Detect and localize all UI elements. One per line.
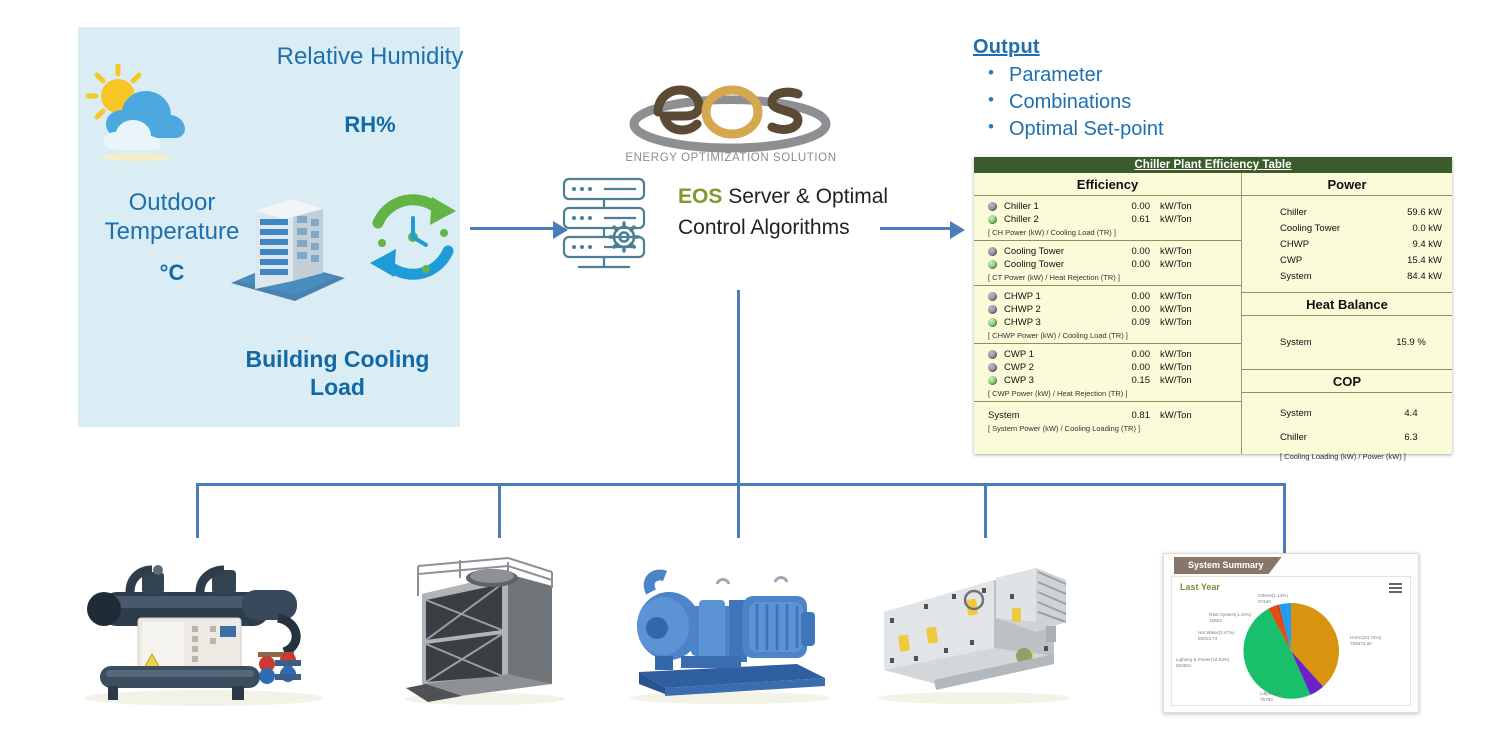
efficiency-group-chwp: CHWP 1 0.00 kW/Ton CHWP 2 0.00 kW/Ton CH… [974, 286, 1241, 344]
row-value: 6.3 [1380, 432, 1442, 443]
row-label: CHWP [1280, 239, 1380, 250]
power-column-title: Power [1242, 173, 1452, 196]
bullet-icon: • [973, 118, 1009, 137]
pie-label-others: Others(1.44%) 67240 [1258, 593, 1288, 605]
status-dot-off-icon [988, 202, 997, 211]
table-row: CHWP 2 0.00 kW/Ton [974, 303, 1241, 316]
row-value: 0.00 [1112, 201, 1150, 212]
row-value: 0.09 [1112, 317, 1150, 328]
row-unit: kW/Ton [1150, 362, 1192, 373]
efficiency-column-title: Efficiency [974, 173, 1241, 196]
row-label: CHWP 3 [1004, 317, 1112, 328]
row-label: CWP 2 [1004, 362, 1112, 373]
chiller-plant-efficiency-table: Chiller Plant Efficiency Table Efficienc… [974, 157, 1452, 454]
server-gear-icon [558, 175, 658, 270]
row-label: Cooling Tower [1004, 246, 1112, 257]
row-label: Chiller 2 [1004, 214, 1112, 225]
row-value: 0.61 [1112, 214, 1150, 225]
row-value: 0.0 kW [1380, 223, 1442, 234]
table-row: CWP 3 0.15 kW/Ton [974, 374, 1241, 387]
eos-brand-label: EOS [678, 185, 722, 208]
outdoor-temperature-value: °C [82, 260, 262, 286]
table-row: Cooling Tower 0.00 kW/Ton [974, 245, 1241, 258]
status-dot-off-icon [988, 350, 997, 359]
status-dot-on-icon [988, 260, 997, 269]
bullet-icon: • [973, 64, 1009, 83]
table-row: Cooling Tower 0.00 kW/Ton [974, 258, 1241, 271]
dashboard-period-label: Last Year [1180, 582, 1220, 592]
sun-cloud-icon [80, 60, 200, 165]
row-unit: kW/Ton [1150, 375, 1192, 386]
connector-horizontal-bus [196, 483, 1286, 486]
table-row: Chiller 1 0.00 kW/Ton [974, 200, 1241, 213]
arrow-server-to-output [880, 219, 980, 239]
efficiency-group-chiller: Chiller 1 0.00 kW/Ton Chiller 2 0.61 kW/… [974, 196, 1241, 241]
group-note: [ CT Power (kW) / Heat Rejection (TR) ] [974, 271, 1241, 283]
arrow-input-to-server [470, 219, 570, 239]
cop-group: System 4.4 Chiller 6.3 [ Cooling Loading… [1242, 393, 1452, 465]
table-title: Chiller Plant Efficiency Table [974, 157, 1452, 173]
heat-balance-group: System 15.9 % [1242, 316, 1452, 370]
row-label: Chiller [1280, 207, 1380, 218]
row-value: 0.81 [1112, 410, 1150, 421]
row-label: Chiller 1 [1004, 201, 1112, 212]
output-block: Output • Parameter • Combinations • Opti… [973, 36, 1273, 140]
table-row: System 84.4 kW [1242, 268, 1452, 284]
row-value: 0.00 [1112, 304, 1150, 315]
row-label: Cooling Tower [1004, 259, 1112, 270]
output-item-optimal-setpoint: • Optimal Set-point [973, 118, 1273, 140]
connector-trunk-vertical [737, 290, 740, 485]
power-heatbalance-cop-column: Power Chiller 59.6 kW Cooling Tower 0.0 … [1242, 173, 1452, 454]
table-row: CWP 1 0.00 kW/Ton [974, 348, 1241, 361]
connector-drop-dashboard [1283, 483, 1286, 555]
clock-cycle-icon [360, 185, 465, 290]
output-item-combinations: • Combinations [973, 91, 1273, 113]
cop-note: [ Cooling Loading (kW) / Power (kW) ] [1242, 446, 1452, 463]
row-unit: kW/Ton [1150, 304, 1192, 315]
status-dot-off-icon [988, 363, 997, 372]
connector-drop-cooling-tower [498, 483, 501, 538]
output-title: Output [973, 36, 1273, 59]
table-row: Cooling Tower 0.0 kW [1242, 220, 1452, 236]
building-cooling-load-label: Building Cooling Load [225, 345, 450, 401]
row-value: 0.15 [1112, 375, 1150, 386]
row-label: System [1280, 408, 1380, 419]
air-handling-unit-photo [874, 560, 1074, 706]
row-label: System [1280, 271, 1380, 282]
row-value: 59.6 kW [1380, 207, 1442, 218]
pie-label-lift: Lift(4.47%) 76793 [1260, 691, 1282, 703]
efficiency-column: Efficiency Chiller 1 0.00 kW/Ton Chiller… [974, 173, 1242, 454]
group-note: [ CHWP Power (kW) / Cooling Load (TR) ] [974, 329, 1241, 341]
hamburger-menu-icon[interactable] [1389, 583, 1402, 595]
row-unit: kW/Ton [1150, 214, 1192, 225]
row-label: CHWP 1 [1004, 291, 1112, 302]
row-unit: kW/Ton [1150, 291, 1192, 302]
group-note: [ CH Power (kW) / Cooling Load (TR) ] [974, 226, 1241, 238]
row-unit: kW/Ton [1150, 201, 1192, 212]
table-row: Chiller 59.6 kW [1242, 204, 1452, 220]
pie-label-hvac: HVAC(43.74%) 759473.32 [1350, 635, 1381, 647]
cooling-tower-photo [400, 556, 570, 706]
table-row: CHWP 9.4 kW [1242, 236, 1452, 252]
efficiency-group-system: System 0.81 kW/Ton [ System Power (kW) /… [974, 402, 1241, 436]
output-item-label: Parameter [1009, 64, 1102, 86]
row-value: 4.4 [1380, 408, 1442, 419]
row-value: 0.00 [1112, 362, 1150, 373]
cop-column-title: COP [1242, 370, 1452, 393]
eos-server-caption: EOS Server & Optimal Control Algorithms [678, 182, 908, 244]
row-value: 0.00 [1112, 259, 1150, 270]
row-unit: kW/Ton [1150, 259, 1192, 270]
group-note: [ CWP Power (kW) / Heat Rejection (TR) ] [974, 387, 1241, 399]
row-value: 0.00 [1112, 291, 1150, 302]
table-row: Chiller 6.3 [1242, 422, 1452, 446]
efficiency-group-cwp: CWP 1 0.00 kW/Ton CWP 2 0.00 kW/Ton CWP … [974, 344, 1241, 402]
output-item-label: Optimal Set-point [1009, 118, 1164, 140]
status-dot-off-icon [988, 292, 997, 301]
connector-drop-ahu [984, 483, 987, 538]
row-label: CHWP 2 [1004, 304, 1112, 315]
relative-humidity-label: Relative Humidity [270, 42, 470, 71]
row-label: CWP 1 [1004, 349, 1112, 360]
table-row: System 4.4 [1242, 405, 1452, 422]
eos-tagline: ENERGY OPTIMIZATION SOLUTION [596, 152, 866, 164]
chiller-photo [82, 556, 327, 706]
dashboard-tab-label[interactable]: System Summary [1174, 557, 1282, 574]
table-row: CHWP 1 0.00 kW/Ton [974, 290, 1241, 303]
row-value: 15.4 kW [1380, 255, 1442, 266]
status-dot-on-icon [988, 376, 997, 385]
status-dot-on-icon [988, 318, 997, 327]
table-row: CWP 2 0.00 kW/Ton [974, 361, 1241, 374]
row-value: 0.00 [1112, 349, 1150, 360]
row-label: System [988, 410, 1112, 421]
row-unit: kW/Ton [1150, 317, 1192, 328]
row-label: CWP [1280, 255, 1380, 266]
output-item-label: Combinations [1009, 91, 1131, 113]
heat-balance-column-title: Heat Balance [1242, 293, 1452, 316]
row-unit: kW/Ton [1150, 246, 1192, 257]
bullet-icon: • [973, 91, 1009, 110]
status-dot-on-icon [988, 215, 997, 224]
pump-photo [625, 560, 835, 706]
outdoor-temperature-label: Outdoor Temperature [82, 188, 262, 247]
output-item-parameter: • Parameter [973, 64, 1273, 86]
eos-logo-icon [620, 68, 840, 158]
row-value: 15.9 % [1380, 337, 1442, 348]
efficiency-group-cooling-tower: Cooling Tower 0.00 kW/Ton Cooling Tower … [974, 241, 1241, 286]
row-label: CWP 3 [1004, 375, 1112, 386]
system-summary-dashboard[interactable]: System Summary Last Year [1163, 553, 1419, 713]
pie-label-hot-water: Hot Water(3.47%) 65013.74 [1198, 630, 1235, 642]
group-note: [ System Power (kW) / Cooling Loading (T… [974, 422, 1241, 434]
pie-label-lighting-power: Lighting & Power(42.53%) 683561 [1176, 657, 1229, 669]
dashboard-body: Last Year Others(1.44%) [1171, 576, 1411, 706]
row-label: Chiller [1280, 432, 1380, 443]
status-dot-off-icon [988, 247, 997, 256]
row-label: Cooling Tower [1280, 223, 1380, 234]
power-group: Chiller 59.6 kW Cooling Tower 0.0 kW CHW… [1242, 196, 1452, 293]
row-unit: kW/Ton [1150, 349, 1192, 360]
status-dot-off-icon [988, 305, 997, 314]
row-value: 84.4 kW [1380, 271, 1442, 282]
connector-drop-pump [737, 483, 740, 538]
row-value: 0.00 [1112, 246, 1150, 257]
connector-drop-chiller [196, 483, 199, 538]
table-row: Chiller 2 0.61 kW/Ton [974, 213, 1241, 226]
table-row: CWP 15.4 kW [1242, 252, 1452, 268]
row-unit: kW/Ton [1150, 410, 1192, 421]
relative-humidity-value: RH% [270, 112, 470, 138]
row-label: System [1280, 337, 1380, 348]
row-value: 9.4 kW [1380, 239, 1442, 250]
table-row: System 15.9 % [1242, 334, 1452, 351]
table-row: System 0.81 kW/Ton [974, 406, 1241, 422]
table-row: CHWP 3 0.09 kW/Ton [974, 316, 1241, 329]
pie-label-rnd-system: R&D System(1.42%) 15562 [1209, 612, 1251, 624]
